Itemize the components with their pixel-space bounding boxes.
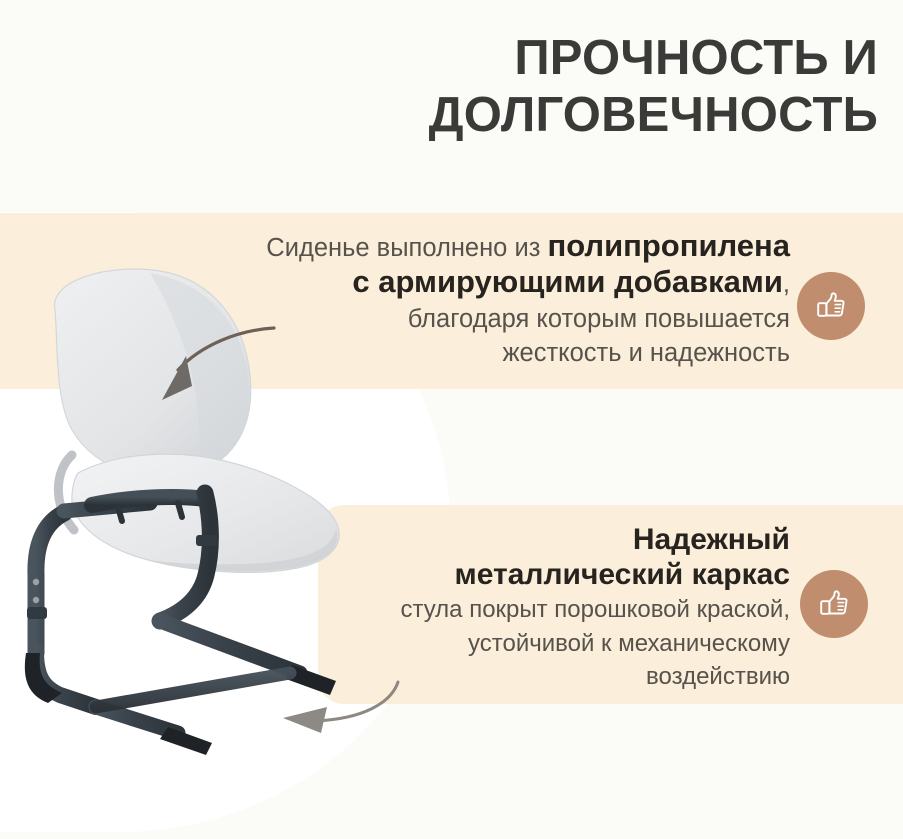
feature-2-tail-1: стула покрыт порошковой краской, xyxy=(300,594,790,625)
feature-1-strong-1: полипропилена xyxy=(547,228,790,263)
feature-2-row-2: металлический каркас xyxy=(300,557,790,592)
feature-2-strong-2: металлический каркас xyxy=(455,558,790,591)
feature-2-strong-1: Надежный xyxy=(633,523,790,556)
feature-1-row-2: с армирующими добавками, xyxy=(150,264,790,300)
feature-1-comma: , xyxy=(783,270,790,298)
thumbs-up-icon xyxy=(814,584,854,624)
arrow-to-frame-icon xyxy=(265,655,435,745)
thumbs-up-icon xyxy=(811,286,851,326)
page-title-line-1: ПРОЧНОСТЬ И xyxy=(178,30,878,87)
feature-1-badge xyxy=(797,272,865,340)
infographic-canvas: ПРОЧНОСТЬ И ДОЛГОВЕЧНОСТЬ Сиденье выполн… xyxy=(0,0,903,839)
feature-1-strong-2: с армирующими добавками xyxy=(352,264,782,299)
page-title-line-2: ДОЛГОВЕЧНОСТЬ xyxy=(178,87,878,144)
arrow-to-seat-icon xyxy=(140,300,330,410)
feature-2-badge xyxy=(800,570,868,638)
page-title: ПРОЧНОСТЬ И ДОЛГОВЕЧНОСТЬ xyxy=(178,30,878,144)
feature-2-row-1: Надежный xyxy=(300,522,790,557)
feature-1-lead: Сиденье выполнено из xyxy=(266,234,547,262)
feature-1-row-1: Сиденье выполнено из полипропилена xyxy=(150,228,790,264)
